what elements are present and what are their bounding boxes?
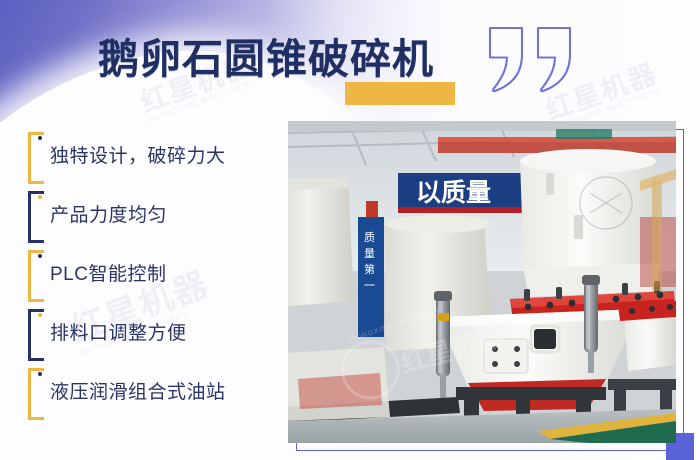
feature-list: 独特设计，破碎力大 产品力度均匀 PLC智能控制 排料口调整方便 液压润滑组合式… <box>28 132 278 427</box>
bracket-accent <box>28 250 44 302</box>
bracket-accent <box>28 368 44 420</box>
bracket-accent <box>28 132 44 184</box>
bracket-accent <box>28 309 44 361</box>
svg-text:质: 质 <box>364 231 375 244</box>
list-item[interactable]: 独特设计，破碎力大 <box>28 132 278 181</box>
svg-text:量: 量 <box>364 247 375 260</box>
bullet-dot-icon <box>38 313 42 317</box>
bullet-dot-icon <box>38 372 42 376</box>
banner-title-group: 鹅卵石圆锥破碎机 <box>98 30 434 90</box>
product-photo[interactable]: 以质量 质 量 第 一 <box>288 121 676 443</box>
bullet-dot-icon <box>38 136 42 140</box>
svg-text:以质量: 以质量 <box>416 178 491 207</box>
list-item-label: 液压润滑组合式油站 <box>46 383 226 402</box>
page-title: 鹅卵石圆锥破碎机 <box>98 30 434 88</box>
list-item[interactable]: PLC智能控制 <box>28 250 278 299</box>
list-item-label: 排料口调整方便 <box>46 324 187 343</box>
list-item-label: 产品力度均匀 <box>46 206 167 225</box>
list-item[interactable]: 产品力度均匀 <box>28 191 278 240</box>
list-item[interactable]: 排料口调整方便 <box>28 309 278 358</box>
product-photo-frame: 以质量 质 量 第 一 <box>288 121 676 443</box>
bracket-accent <box>28 191 44 243</box>
svg-text:第: 第 <box>364 262 375 276</box>
bullet-dot-icon <box>38 254 42 258</box>
product-banner: 红星机器 HONGXING MACHINERY 红星机器 HONGXING MA… <box>0 0 700 460</box>
list-item[interactable]: 液压润滑组合式油站 <box>28 368 278 417</box>
svg-text:一: 一 <box>364 279 375 292</box>
quotation-marks-icon <box>484 24 580 101</box>
bullet-dot-icon <box>38 195 42 199</box>
list-item-label: PLC智能控制 <box>46 265 166 284</box>
list-item-label: 独特设计，破碎力大 <box>46 147 226 166</box>
